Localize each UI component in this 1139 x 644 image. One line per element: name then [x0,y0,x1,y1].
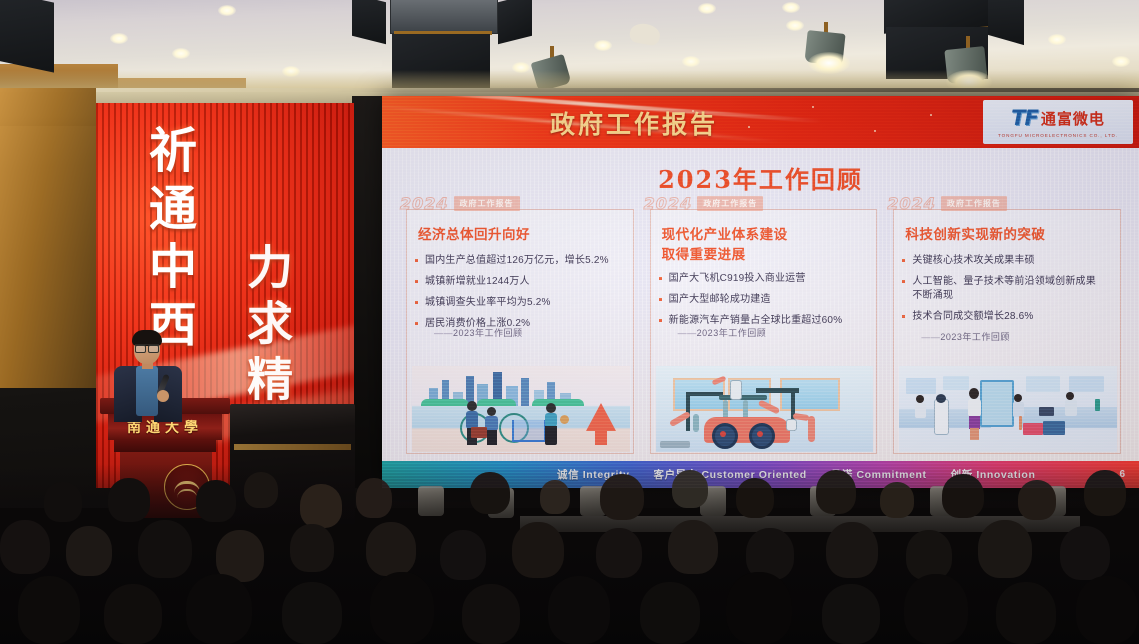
recessed-downlight [782,2,800,13]
audience-head [826,522,878,578]
column-title: 经济总体回升向好 [418,226,626,246]
speaker-shirt [136,366,158,416]
audience-head [186,574,252,644]
audience-head [462,584,520,644]
flask-icon [1095,399,1100,411]
stage-light-fixture [0,0,56,70]
robot-arm-head [730,380,742,400]
spotlight-fixture [940,36,1002,96]
recessed-downlight [282,66,300,77]
car-wheel-icon [712,423,738,449]
watermark-year: 2024 [644,194,693,213]
speaker-person [112,330,184,422]
audience-head [816,470,856,514]
logo-mark-tf: TF [1011,106,1038,130]
list-item: 国产大飞机C919投入商业运营 [658,272,872,286]
wood-side-wall [0,88,96,388]
illustration-person [484,407,502,445]
wall-panel [1026,376,1061,391]
audience-head [1018,480,1056,520]
projection-screen: 政府工作报告 TF 通富微电 TONGFU MICROELECTRONICS C… [382,96,1139,488]
presentation-board [980,380,1014,427]
watermark-badge: 政府工作报告 [941,196,1007,211]
glasses-icon [135,344,159,351]
audience-head [942,474,984,518]
shopping-cart-icon [512,420,546,442]
list-item: 国内生产总值超过126万亿元，增长5.2% [414,254,628,268]
audience-head [596,528,642,578]
audience-head [640,582,700,644]
column-bullet-list: 关键核心技术攻关成果丰硕 人工智能、量子技术等前沿领域创新成果 不断涌现 技术合… [901,254,1115,331]
city-people-shopping-illustration [412,366,630,452]
laptop-icon [1039,407,1054,416]
illustration-person [1065,392,1077,418]
illustration-person [543,403,561,445]
stage-light-fixture [352,0,540,92]
list-item: 国产大型邮轮成功建造 [658,293,872,307]
conference-photo: 祈通中西 力求精 南通大學 [0,0,1139,644]
equipment-box [1043,421,1065,435]
recessed-downlight [218,5,236,16]
sensor-box-icon [786,419,797,431]
audience-head [290,524,334,572]
audience-head [668,520,718,574]
wall-panel [1069,376,1104,391]
audience [0,464,1139,644]
slide-header-band: 政府工作报告 TF 通富微电 TONGFU MICROELECTRONICS C… [382,96,1139,148]
slide-column: 2024 政府工作报告 经济总体回升向好 国内生产总值超过126万亿元，增长5.… [400,196,634,454]
car-wheel-icon [749,423,775,449]
audience-head [104,584,162,644]
lectern-neck [114,440,216,452]
audience-head [672,470,708,508]
speaker-hand [157,390,169,402]
audience-head [822,584,880,644]
slide-column: 2024 政府工作报告 现代化产业体系建设 取得重要进展 国产大飞机C919投入… [644,196,878,454]
column-signature: 2023年工作回顾 [921,330,1010,343]
recessed-downlight [682,56,700,67]
recessed-downlight [594,40,612,51]
spotlight-fixture [628,18,668,48]
audience-head [44,482,82,522]
column-signature: 2023年工作回顾 [434,326,523,339]
audience-head [512,522,564,578]
equipment-box [1023,423,1043,435]
illustration-person [464,401,482,445]
slide-header-title: 政府工作报告 [550,105,718,141]
audience-head [1084,470,1126,516]
wall-panel [906,378,936,393]
list-item: 城镇新增就业1244万人 [414,275,628,289]
audience-head [0,520,50,574]
audience-head [282,582,342,644]
audience-head [1076,576,1138,644]
audience-head [906,530,952,580]
lab-robot-researchers-illustration [899,366,1117,452]
logo-chinese-name: 通富微电 [1041,108,1105,129]
list-item: 技术合同成交额增长28.6% [901,310,1115,324]
audience-head [736,478,774,518]
robot-arm [808,416,815,442]
audience-head [904,574,968,644]
slide-body: 2023年工作回顾 2024 政府工作报告 经济总体回升向好 国内生产总值超过1… [382,148,1139,461]
audience-head [440,530,486,580]
wall-panel [943,376,969,390]
column-title: 科技创新实现新的突破 [905,226,1113,246]
recessed-downlight [698,3,716,14]
growth-arrow-icon [586,403,616,431]
audience-head [356,478,392,518]
audience-head [300,484,342,528]
audience-head [244,472,278,508]
audience-head [138,520,192,578]
list-item: 关键核心技术攻关成果丰硕 [901,254,1115,268]
column-watermark: 2024 政府工作报告 [887,196,1007,211]
audience-head [370,572,434,644]
audience-head [996,582,1056,644]
company-logo: TF 通富微电 TONGFU MICROELECTRONICS CO., LTD… [983,100,1133,144]
illustration-person [1013,394,1024,418]
audience-head [600,474,644,520]
briefcase-icon [471,427,487,438]
illustration-person [915,395,926,419]
audience-head [366,522,416,576]
column-signature: 2023年工作回顾 [678,326,767,339]
recessed-downlight [172,48,190,59]
banner-motto-line2: 力求精 [244,243,290,411]
column-title: 现代化产业体系建设 取得重要进展 [662,226,870,265]
lab-stand [1019,416,1022,430]
audience-head [548,576,610,644]
audience-head [1060,526,1110,580]
audience-head [726,572,792,644]
slide-columns: 2024 政府工作报告 经济总体回升向好 国内生产总值超过126万亿元，增长5.… [400,196,1121,454]
banner-motto-line1: 祈通中西 [144,125,192,357]
watermark-badge: 政府工作报告 [454,196,520,211]
audience-head [470,472,510,514]
spotlight-fixture [800,22,860,80]
watermark-year: 2024 [400,194,449,213]
audience-head [880,482,914,518]
robot-arm [693,414,699,432]
audience-head [196,480,236,522]
audience-head [108,478,150,522]
audience-head [540,480,570,514]
column-watermark: 2024 政府工作报告 [644,196,764,211]
handbag-icon [560,415,569,424]
column-watermark: 2024 政府工作报告 [400,196,520,211]
recessed-downlight [1112,56,1130,67]
logo-english-name: TONGFU MICROELECTRONICS CO., LTD. [998,133,1118,138]
list-item: 城镇调查失业率平均为5.2% [414,296,628,310]
illustration-person [967,388,982,440]
recessed-downlight [110,33,128,44]
audience-head [978,520,1032,578]
conveyor-icon [660,441,690,448]
recessed-downlight [1048,34,1066,45]
humanoid-robot-icon [934,399,949,435]
audience-head [18,576,80,644]
list-item: 人工智能、量子技术等前沿领域创新成果 不断涌现 [901,275,1115,303]
slide-title: 2023年工作回顾 [382,160,1139,195]
slide-column: 2024 政府工作报告 科技创新实现新的突破 关键核心技术攻关成果丰硕 人工智能… [887,196,1121,454]
audience-head [66,526,112,576]
robotic-car-assembly-illustration [656,366,874,452]
watermark-badge: 政府工作报告 [697,196,763,211]
watermark-year: 2024 [887,194,936,213]
stage-curtain-gap [352,96,382,488]
auditorium-ceiling [0,0,1139,96]
spotlight-fixture [530,46,576,94]
